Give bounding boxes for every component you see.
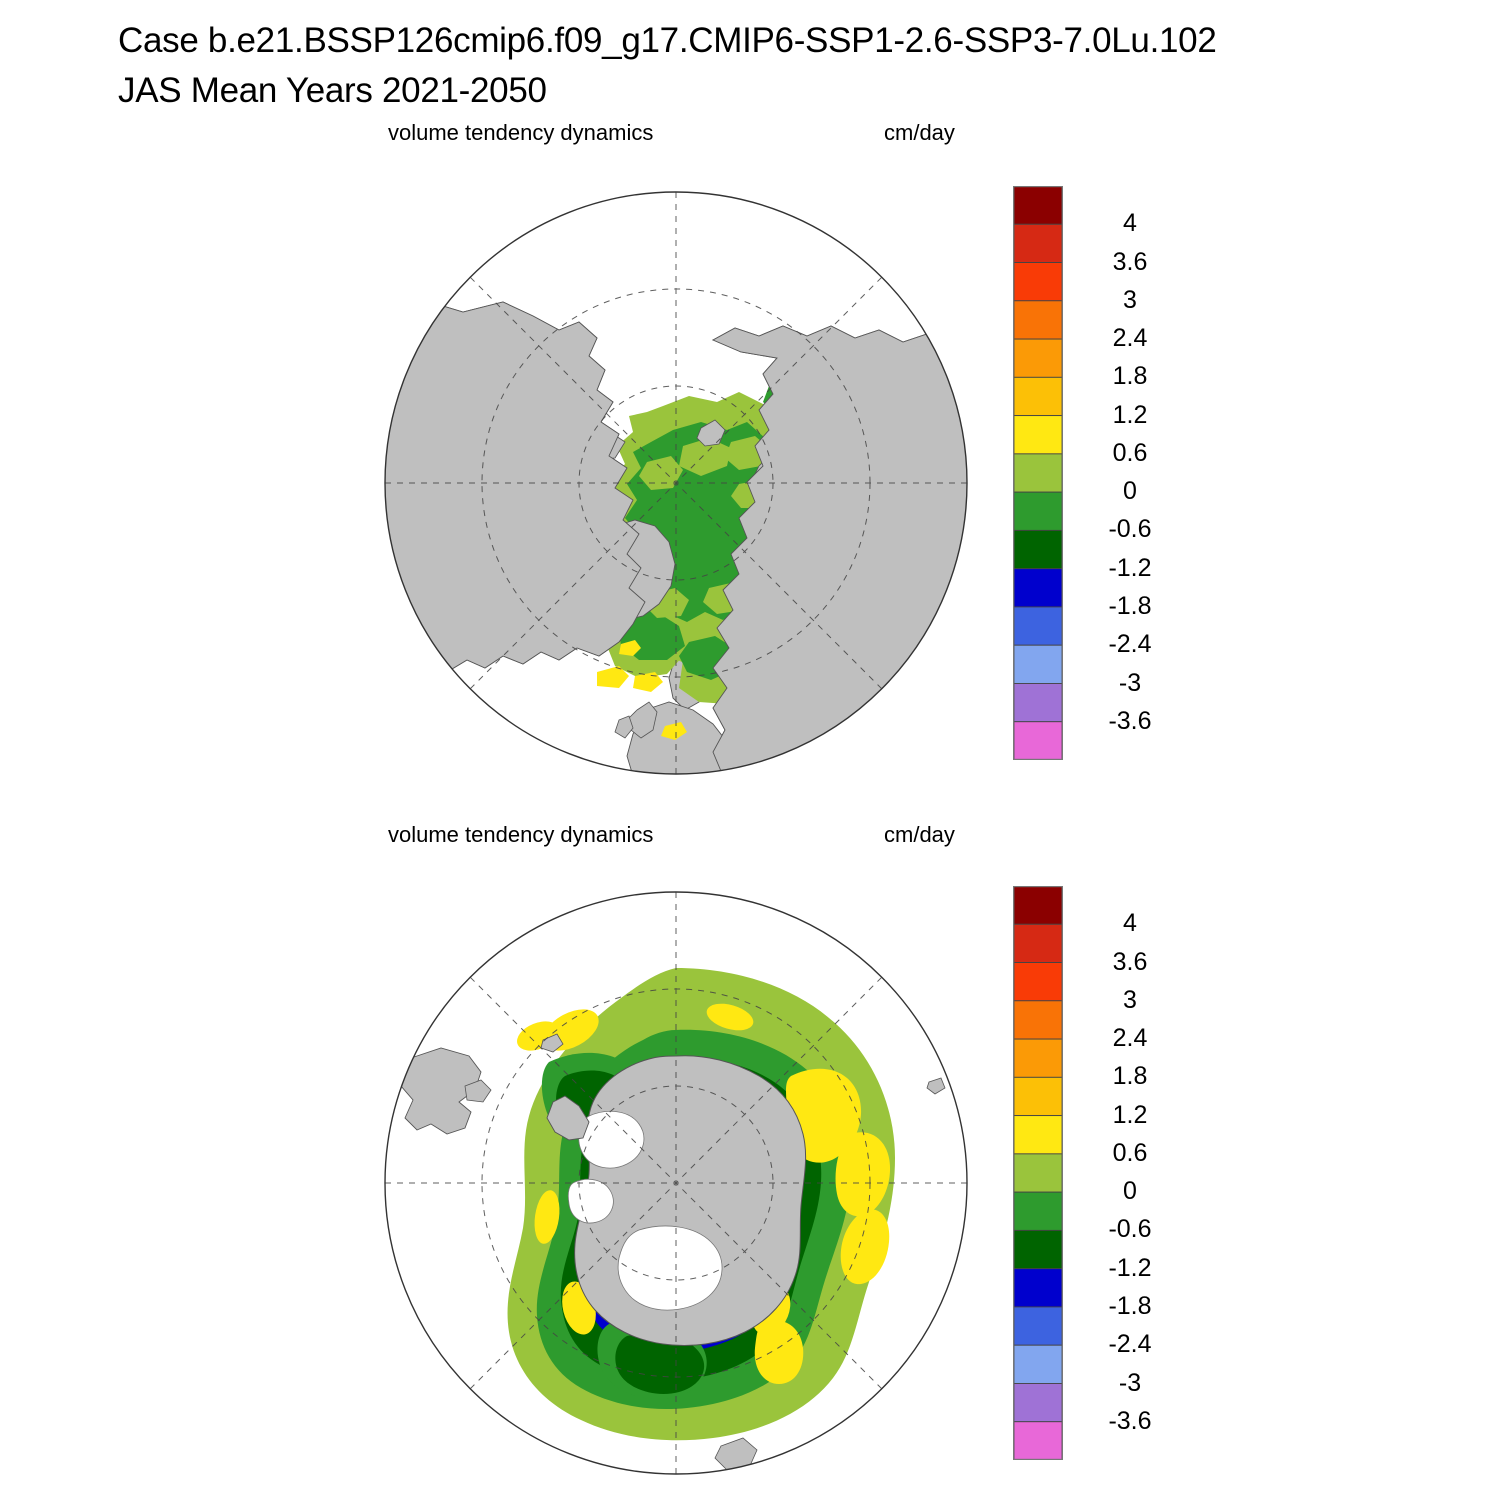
antarctic-colorbar-tick-6: 0.6 (1075, 1141, 1185, 1166)
antarctic-colorbar-tick-8: -0.6 (1075, 1217, 1185, 1242)
antarctic-colorbar-tick-9: -1.2 (1075, 1256, 1185, 1281)
antarctic-colorbar-band-5 (1014, 1077, 1062, 1115)
antarctic-colorbar-tick-4: 1.8 (1075, 1064, 1185, 1089)
arctic-colorbar-band-8 (1014, 492, 1062, 530)
antarctic-colorbar-band-11 (1014, 1307, 1062, 1345)
antarctic-colorbar-band-8 (1014, 1192, 1062, 1230)
antarctic-colorbar-band-10 (1014, 1269, 1062, 1307)
antarctic-colorbar-tick-11: -2.4 (1075, 1332, 1185, 1357)
arctic-colorbar-band-10 (1014, 569, 1062, 607)
antarctic-colorbar-tick-0: 4 (1075, 911, 1185, 936)
arctic-colorbar-band-3 (1014, 301, 1062, 339)
arctic-colorbar-tick-3: 2.4 (1075, 326, 1185, 351)
antarctic-colorbar-tick-7: 0 (1075, 1179, 1185, 1204)
arctic-colorbar-band-14 (1014, 722, 1062, 760)
arctic-colorbar-tick-8: -0.6 (1075, 517, 1185, 542)
antarctic-units-label: cm/day (884, 822, 955, 848)
arctic-colorbar-tick-9: -1.2 (1075, 556, 1185, 581)
antarctic-polar-map[interactable] (383, 890, 969, 1476)
antarctic-colorbar-band-1 (1014, 924, 1062, 962)
arctic-variable-label: volume tendency dynamics (388, 120, 653, 146)
arctic-colorbar-swatches (1013, 186, 1063, 760)
title-line-1: Case b.e21.BSSP126cmip6.f09_g17.CMIP6-SS… (118, 16, 1458, 66)
antarctic-colorbar-band-13 (1014, 1383, 1062, 1421)
arctic-colorbar-tick-11: -2.4 (1075, 632, 1185, 657)
arctic-polar-map[interactable] (383, 190, 969, 776)
arctic-colorbar-band-1 (1014, 224, 1062, 262)
arctic-colorbar-tick-0: 4 (1075, 211, 1185, 236)
antarctic-colorbar-tick-1: 3.6 (1075, 950, 1185, 975)
antarctic-colorbar-band-6 (1014, 1116, 1062, 1154)
antarctic-colorbar-swatches (1013, 886, 1063, 1460)
antarctic-colorbar-band-7 (1014, 1154, 1062, 1192)
arctic-colorbar-band-7 (1014, 454, 1062, 492)
arctic-colorbar[interactable]: 43.632.41.81.20.60-0.6-1.2-1.8-2.4-3-3.6 (1013, 186, 1203, 760)
arctic-colorbar-tick-2: 3 (1075, 288, 1185, 313)
arctic-colorbar-tick-5: 1.2 (1075, 403, 1185, 428)
chart-title: Case b.e21.BSSP126cmip6.f09_g17.CMIP6-SS… (118, 16, 1458, 116)
antarctic-colorbar[interactable]: 43.632.41.81.20.60-0.6-1.2-1.8-2.4-3-3.6 (1013, 886, 1203, 1460)
antarctic-variable-label: volume tendency dynamics (388, 822, 653, 848)
arctic-colorbar-band-9 (1014, 530, 1062, 568)
title-line-2: JAS Mean Years 2021-2050 (118, 66, 1458, 116)
arctic-colorbar-band-5 (1014, 377, 1062, 415)
antarctic-colorbar-band-9 (1014, 1230, 1062, 1268)
antarctic-colorbar-band-14 (1014, 1422, 1062, 1460)
arctic-colorbar-band-11 (1014, 607, 1062, 645)
antarctic-colorbar-band-2 (1014, 963, 1062, 1001)
arctic-colorbar-band-2 (1014, 263, 1062, 301)
arctic-colorbar-tick-10: -1.8 (1075, 594, 1185, 619)
arctic-colorbar-band-4 (1014, 339, 1062, 377)
antarctic-colorbar-tick-12: -3 (1075, 1371, 1185, 1396)
arctic-colorbar-tick-7: 0 (1075, 479, 1185, 504)
arctic-colorbar-tick-6: 0.6 (1075, 441, 1185, 466)
antarctic-colorbar-tick-10: -1.8 (1075, 1294, 1185, 1319)
arctic-colorbar-band-6 (1014, 416, 1062, 454)
antarctic-colorbar-tick-2: 3 (1075, 988, 1185, 1013)
arctic-colorbar-band-0 (1014, 186, 1062, 224)
antarctic-colorbar-band-4 (1014, 1039, 1062, 1077)
arctic-colorbar-band-12 (1014, 645, 1062, 683)
arctic-colorbar-band-13 (1014, 683, 1062, 721)
antarctic-colorbar-tick-5: 1.2 (1075, 1103, 1185, 1128)
antarctic-colorbar-tick-13: -3.6 (1075, 1409, 1185, 1434)
antarctic-colorbar-band-3 (1014, 1001, 1062, 1039)
arctic-colorbar-tick-12: -3 (1075, 671, 1185, 696)
arctic-colorbar-tick-4: 1.8 (1075, 364, 1185, 389)
antarctic-colorbar-band-12 (1014, 1345, 1062, 1383)
antarctic-colorbar-band-0 (1014, 886, 1062, 924)
arctic-units-label: cm/day (884, 120, 955, 146)
antarctic-colorbar-tick-3: 2.4 (1075, 1026, 1185, 1051)
arctic-colorbar-tick-1: 3.6 (1075, 250, 1185, 275)
arctic-colorbar-tick-13: -3.6 (1075, 709, 1185, 734)
